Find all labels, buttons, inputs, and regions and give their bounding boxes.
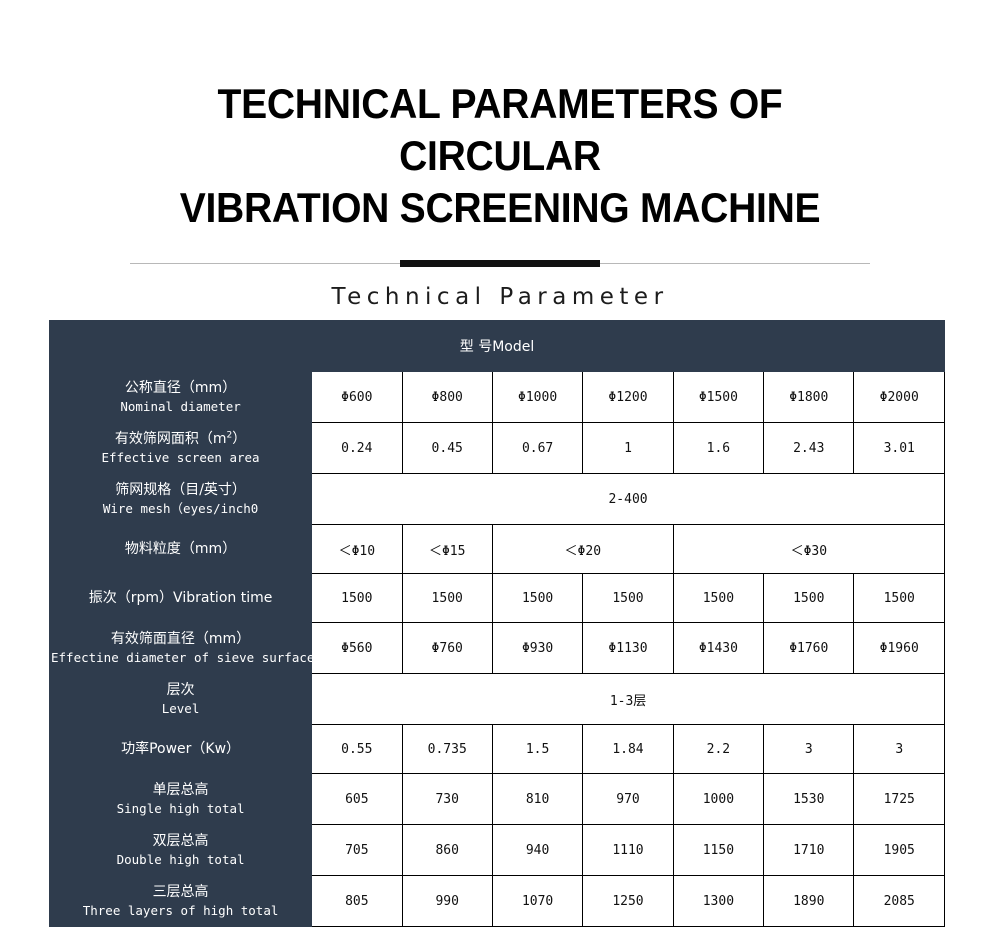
table-row: 公称直径（mm）Nominal diameterΦ600Φ800Φ1000Φ12… <box>50 372 945 423</box>
table-cell: 0.24 <box>312 423 402 474</box>
table-cell: 1110 <box>583 825 673 876</box>
table-cell: ＜Φ30 <box>673 525 944 574</box>
table-cell: 940 <box>492 825 582 876</box>
page-subtitle: Technical Parameter <box>0 284 1000 310</box>
row-label-cell: 功率Power（Kw） <box>50 725 312 774</box>
row-label-en: Wire mesh（eyes/inch0 <box>51 500 310 518</box>
model-header-label: 型 号Model <box>51 336 943 356</box>
row-label-cell: 筛网规格（目/英寸）Wire mesh（eyes/inch0 <box>50 474 312 525</box>
row-label-cell: 三层总高Three layers of high total <box>50 876 312 927</box>
table-cell: 1500 <box>673 574 763 623</box>
row-label-en: Single high total <box>51 800 310 818</box>
row-label-cell: 层次Level <box>50 674 312 725</box>
page-title-line-1: TECHNICAL PARAMETERS OF CIRCULAR <box>119 78 882 182</box>
table-cell: 3 <box>854 725 945 774</box>
table-cell: 1.6 <box>673 423 763 474</box>
row-label-cell: 振次（rpm）Vibration time <box>50 574 312 623</box>
table-cell: 0.55 <box>312 725 402 774</box>
table-cell: 0.735 <box>402 725 492 774</box>
table-cell: Φ1500 <box>673 372 763 423</box>
table-cell: Φ2000 <box>854 372 945 423</box>
table-cell: 1500 <box>583 574 673 623</box>
table-cell: 1.5 <box>492 725 582 774</box>
table-cell: Φ560 <box>312 623 402 674</box>
table-cell: 970 <box>583 774 673 825</box>
table-cell: 705 <box>312 825 402 876</box>
row-label-cell: 物料粒度（mm） <box>50 525 312 574</box>
table-cell: Φ1430 <box>673 623 763 674</box>
table-cell: 1250 <box>583 876 673 927</box>
table-cell: 2.2 <box>673 725 763 774</box>
row-label-en: Double high total <box>51 851 310 869</box>
table-cell: 1 <box>583 423 673 474</box>
table-row: 有效筛面直径（mm）Effectine diameter of sieve su… <box>50 623 945 674</box>
row-label-cell: 双层总高Double high total <box>50 825 312 876</box>
technical-parameters-table: 型 号Model 公称直径（mm）Nominal diameterΦ600Φ80… <box>49 320 945 927</box>
page-title: TECHNICAL PARAMETERS OF CIRCULAR VIBRATI… <box>119 78 882 234</box>
row-label-en: Effectine diameter of sieve surface <box>51 649 310 667</box>
table-cell: 0.67 <box>492 423 582 474</box>
table-cell: 1500 <box>764 574 854 623</box>
table-cell: 1890 <box>764 876 854 927</box>
row-label-cn: 功率Power（Kw） <box>121 741 240 757</box>
row-label-cn: 双层总高 <box>51 831 310 851</box>
table-cell: 1-3层 <box>312 674 945 725</box>
table-cell: ＜Φ20 <box>492 525 673 574</box>
table-cell: 1070 <box>492 876 582 927</box>
table-cell: 605 <box>312 774 402 825</box>
table-cell: 1905 <box>854 825 945 876</box>
table-cell: Φ1960 <box>854 623 945 674</box>
table-row: 振次（rpm）Vibration time1500150015001500150… <box>50 574 945 623</box>
row-label-cn: 层次 <box>51 680 310 700</box>
row-label-cell: 有效筛面直径（mm）Effectine diameter of sieve su… <box>50 623 312 674</box>
table-cell: 860 <box>402 825 492 876</box>
table-row: 有效筛网面积（m2）Effective screen area0.240.450… <box>50 423 945 474</box>
table-header-row: 型 号Model <box>50 321 945 372</box>
table-cell: Φ600 <box>312 372 402 423</box>
table-row: 双层总高Double high total7058609401110115017… <box>50 825 945 876</box>
table-cell: Φ1000 <box>492 372 582 423</box>
table-cell: 810 <box>492 774 582 825</box>
table-cell: 1500 <box>854 574 945 623</box>
row-label-en: Three layers of high total <box>51 902 310 920</box>
row-label-cn: 物料粒度（mm） <box>125 541 236 557</box>
table-row: 筛网规格（目/英寸）Wire mesh（eyes/inch02-400 <box>50 474 945 525</box>
row-label-cn: 有效筛面直径（mm） <box>51 629 310 649</box>
table-cell: 1000 <box>673 774 763 825</box>
row-label-cn: 有效筛网面积（m2） <box>51 429 310 449</box>
table-cell: ＜Φ10 <box>312 525 402 574</box>
table-cell: 1150 <box>673 825 763 876</box>
row-label-cell: 单层总高Single high total <box>50 774 312 825</box>
table-cell: 1500 <box>312 574 402 623</box>
table-cell: 730 <box>402 774 492 825</box>
table-cell: Φ760 <box>402 623 492 674</box>
row-label-cell: 有效筛网面积（m2）Effective screen area <box>50 423 312 474</box>
table-cell: 3 <box>764 725 854 774</box>
table-cell: 1500 <box>402 574 492 623</box>
table-cell: 1500 <box>492 574 582 623</box>
row-label-en: Level <box>51 700 310 718</box>
row-label-en: Nominal diameter <box>51 398 310 416</box>
table-cell: Φ1760 <box>764 623 854 674</box>
table-cell: 1.84 <box>583 725 673 774</box>
title-divider <box>130 260 870 268</box>
table-cell: 3.01 <box>854 423 945 474</box>
table-cell: 1725 <box>854 774 945 825</box>
table-cell: 2085 <box>854 876 945 927</box>
model-header-cell: 型 号Model <box>50 321 945 372</box>
table-cell: 1300 <box>673 876 763 927</box>
table-cell: 2-400 <box>312 474 945 525</box>
table-cell: 2.43 <box>764 423 854 474</box>
divider-accent-bar <box>400 260 600 267</box>
row-label-cn: 单层总高 <box>51 780 310 800</box>
spec-table-body: 型 号Model 公称直径（mm）Nominal diameterΦ600Φ80… <box>50 321 945 927</box>
table-cell: Φ800 <box>402 372 492 423</box>
table-row: 功率Power（Kw）0.550.7351.51.842.233 <box>50 725 945 774</box>
table-row: 层次Level1-3层 <box>50 674 945 725</box>
row-label-cell: 公称直径（mm）Nominal diameter <box>50 372 312 423</box>
table-cell: 1530 <box>764 774 854 825</box>
table-cell: Φ1800 <box>764 372 854 423</box>
row-label-en: Effective screen area <box>51 449 310 467</box>
row-label-cn: 振次（rpm）Vibration time <box>89 590 273 606</box>
table-cell: Φ930 <box>492 623 582 674</box>
table-cell: Φ1200 <box>583 372 673 423</box>
spec-table-wrapper: 型 号Model 公称直径（mm）Nominal diameterΦ600Φ80… <box>49 320 945 927</box>
table-row: 物料粒度（mm）＜Φ10＜Φ15＜Φ20＜Φ30 <box>50 525 945 574</box>
page-title-line-2: VIBRATION SCREENING MACHINE <box>119 182 882 234</box>
row-label-cn: 筛网规格（目/英寸） <box>51 480 310 500</box>
table-cell: 1710 <box>764 825 854 876</box>
table-cell: Φ1130 <box>583 623 673 674</box>
table-row: 三层总高Three layers of high total8059901070… <box>50 876 945 927</box>
table-cell: 805 <box>312 876 402 927</box>
table-cell: 990 <box>402 876 492 927</box>
table-cell: ＜Φ15 <box>402 525 492 574</box>
page-title-block: TECHNICAL PARAMETERS OF CIRCULAR VIBRATI… <box>0 0 1000 310</box>
table-row: 单层总高Single high total6057308109701000153… <box>50 774 945 825</box>
row-label-cn: 三层总高 <box>51 882 310 902</box>
table-cell: 0.45 <box>402 423 492 474</box>
row-label-cn: 公称直径（mm） <box>51 378 310 398</box>
